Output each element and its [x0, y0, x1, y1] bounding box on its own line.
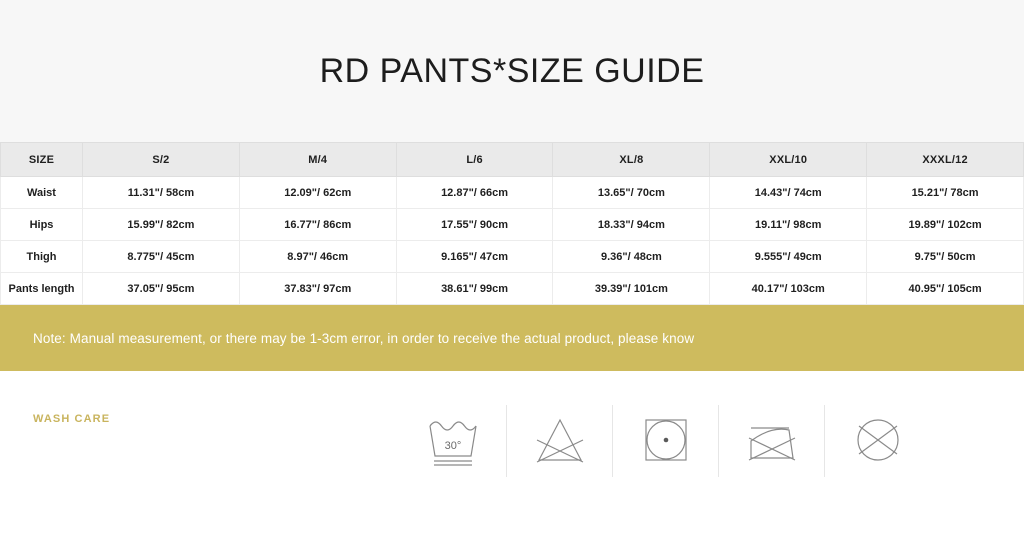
cell-waist-l6: 12.87"/ 66cm: [396, 177, 553, 209]
table-row: Waist 11.31"/ 58cm 12.09"/ 62cm 12.87"/ …: [1, 177, 1024, 209]
cell-thigh-l6: 9.165"/ 47cm: [396, 241, 553, 273]
cell-waist-xl8: 13.65"/ 70cm: [553, 177, 710, 209]
measurement-note-banner: Note: Manual measurement, or there may b…: [0, 305, 1024, 371]
cell-pants-length-xl8: 39.39"/ 101cm: [553, 273, 710, 305]
table-header: SIZE S/2 M/4 L/6 XL/8 XXL/10 XXXL/12: [1, 143, 1024, 177]
cell-pants-length-s2: 37.05"/ 95cm: [83, 273, 240, 305]
column-header-xxxl12: XXXL/12: [867, 143, 1024, 177]
cell-pants-length-m4: 37.83"/ 97cm: [239, 273, 396, 305]
care-icon-cell-tumble-dry: [612, 405, 718, 477]
cell-waist-m4: 12.09"/ 62cm: [239, 177, 396, 209]
column-header-l6: L/6: [396, 143, 553, 177]
care-icon-cell-bleach: [506, 405, 612, 477]
cell-hips-xl8: 18.33"/ 94cm: [553, 209, 710, 241]
column-header-size: SIZE: [1, 143, 83, 177]
column-header-s2: S/2: [83, 143, 240, 177]
row-label-pants-length: Pants length: [1, 273, 83, 305]
title-band: RD PANTS*SIZE GUIDE: [0, 0, 1024, 142]
row-label-hips: Hips: [1, 209, 83, 241]
cell-thigh-xxl10: 9.555"/ 49cm: [710, 241, 867, 273]
row-label-thigh: Thigh: [1, 241, 83, 273]
cell-thigh-s2: 8.775"/ 45cm: [83, 241, 240, 273]
cell-hips-m4: 16.77"/ 86cm: [239, 209, 396, 241]
cell-hips-s2: 15.99"/ 82cm: [83, 209, 240, 241]
cell-pants-length-l6: 38.61"/ 99cm: [396, 273, 553, 305]
care-icon-cell-wash: 30°: [400, 405, 506, 477]
tumble-dry-low-icon: [635, 412, 697, 470]
do-not-dry-clean-icon: [847, 412, 909, 470]
wash-temperature-text: 30°: [445, 440, 462, 452]
wash-30-degrees-delicate-icon: 30°: [422, 412, 484, 470]
cell-hips-xxl10: 19.11"/ 98cm: [710, 209, 867, 241]
wash-care-label: WASH CARE: [0, 405, 400, 425]
column-header-xxl10: XXL/10: [710, 143, 867, 177]
cell-hips-l6: 17.55"/ 90cm: [396, 209, 553, 241]
table-row: Hips 15.99"/ 82cm 16.77"/ 86cm 17.55"/ 9…: [1, 209, 1024, 241]
care-icon-cell-dry-clean: [824, 405, 930, 477]
care-icon-row: 30°: [400, 405, 930, 477]
table-body: Waist 11.31"/ 58cm 12.09"/ 62cm 12.87"/ …: [1, 177, 1024, 305]
column-header-m4: M/4: [239, 143, 396, 177]
do-not-bleach-icon: [529, 412, 591, 470]
column-header-xl8: XL/8: [553, 143, 710, 177]
measurement-note-text: Note: Manual measurement, or there may b…: [33, 331, 694, 346]
table-row: Pants length 37.05"/ 95cm 37.83"/ 97cm 3…: [1, 273, 1024, 305]
do-not-iron-icon: [741, 412, 803, 470]
cell-hips-xxxl12: 19.89"/ 102cm: [867, 209, 1024, 241]
size-guide-table: SIZE S/2 M/4 L/6 XL/8 XXL/10 XXXL/12 Wai…: [0, 142, 1024, 305]
wash-care-section: WASH CARE 30°: [0, 371, 1024, 535]
row-label-waist: Waist: [1, 177, 83, 209]
cell-thigh-xxxl12: 9.75"/ 50cm: [867, 241, 1024, 273]
cell-waist-xxl10: 14.43"/ 74cm: [710, 177, 867, 209]
cell-waist-xxxl12: 15.21"/ 78cm: [867, 177, 1024, 209]
cell-pants-length-xxxl12: 40.95"/ 105cm: [867, 273, 1024, 305]
cell-pants-length-xxl10: 40.17"/ 103cm: [710, 273, 867, 305]
size-guide-page: RD PANTS*SIZE GUIDE SIZE S/2 M/4 L/6 XL/…: [0, 0, 1024, 535]
cell-thigh-m4: 8.97"/ 46cm: [239, 241, 396, 273]
page-title: RD PANTS*SIZE GUIDE: [320, 52, 705, 91]
table-header-row: SIZE S/2 M/4 L/6 XL/8 XXL/10 XXXL/12: [1, 143, 1024, 177]
table-row: Thigh 8.775"/ 45cm 8.97"/ 46cm 9.165"/ 4…: [1, 241, 1024, 273]
cell-waist-s2: 11.31"/ 58cm: [83, 177, 240, 209]
cell-thigh-xl8: 9.36"/ 48cm: [553, 241, 710, 273]
care-icon-cell-iron: [718, 405, 824, 477]
